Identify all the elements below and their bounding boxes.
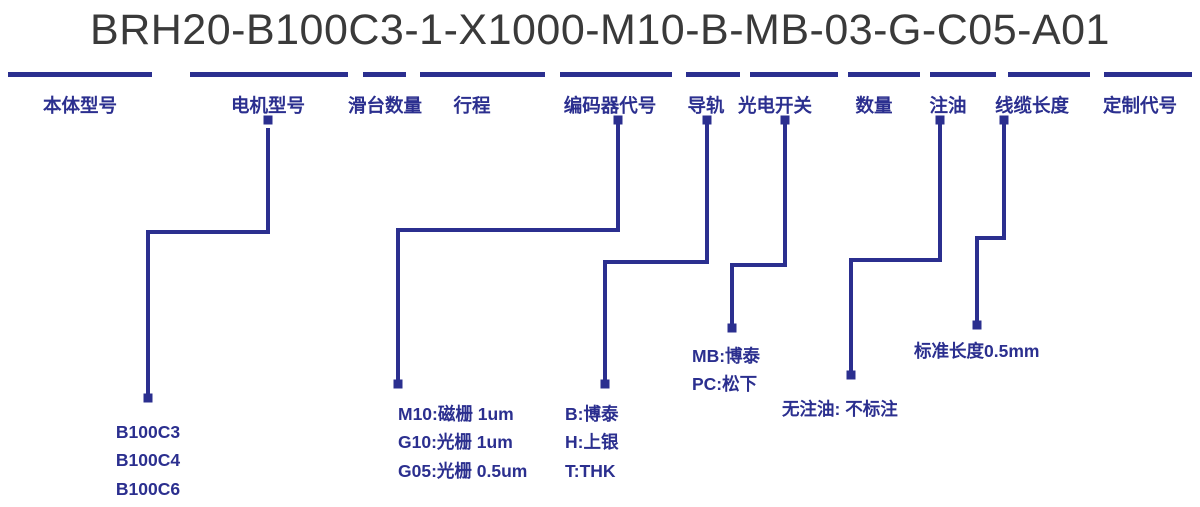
- segment-label-body-model: 本体型号: [43, 92, 117, 118]
- leader-oiling-end-marker: [847, 371, 856, 380]
- segment-underlines: [8, 72, 1192, 77]
- leader-guide-rail-end-marker: [601, 380, 610, 389]
- note-line: T:THK: [565, 457, 618, 485]
- segment-label-guide-rail: 导轨: [687, 92, 724, 118]
- underline-encoder-code: [560, 72, 672, 77]
- leader-oiling: [851, 122, 940, 372]
- underline-custom-code: [1104, 72, 1192, 77]
- model-code-string: BRH20-B100C3-1-X1000-M10-B-MB-03-G-C05-A…: [0, 0, 1200, 60]
- segment-label-photo-switch: 光电开关: [738, 92, 812, 118]
- underline-cable-length: [1008, 72, 1090, 77]
- note-line: M10:磁栅 1um: [398, 400, 527, 428]
- segment-label-cable-length: 线缆长度: [995, 92, 1069, 118]
- underline-quantity: [848, 72, 920, 77]
- note-line: G05:光栅 0.5um: [398, 457, 527, 485]
- note-line: PC:松下: [692, 370, 760, 398]
- note-oiling-options: 无注油: 不标注: [782, 395, 898, 423]
- note-line: B100C3: [116, 418, 180, 446]
- note-line: H:上银: [565, 428, 618, 456]
- note-line: G10:光栅 1um: [398, 428, 527, 456]
- note-guide-rail-options: B:博泰H:上银T:THK: [565, 400, 618, 485]
- note-line: 无注油: 不标注: [782, 395, 898, 423]
- underline-motor-model: [190, 72, 348, 77]
- leader-cable-length: [977, 122, 1004, 322]
- leader-cable-length-end-marker: [973, 321, 982, 330]
- underline-slider-count: [363, 72, 406, 77]
- note-encoder-options: M10:磁栅 1umG10:光栅 1umG05:光栅 0.5um: [398, 400, 527, 485]
- leader-photo-switch: [732, 122, 785, 325]
- leader-photo-switch-end-marker: [728, 324, 737, 333]
- leader-body-model: [148, 128, 268, 396]
- leader-lines: [148, 122, 1004, 396]
- segment-label-custom-code: 定制代号: [1103, 92, 1177, 118]
- leader-encoder: [398, 122, 618, 380]
- note-cable-length-options: 标准长度0.5mm: [914, 337, 1039, 365]
- note-line: MB:博泰: [692, 342, 760, 370]
- segment-label-oiling: 注油: [929, 92, 966, 118]
- underline-oiling: [930, 72, 996, 77]
- underline-photo-switch: [750, 72, 838, 77]
- underline-guide-rail: [686, 72, 740, 77]
- segment-label-encoder-code: 编码器代号: [564, 92, 657, 118]
- leader-body-model-end-marker: [144, 394, 153, 403]
- segment-label-slider-count: 滑台数量: [348, 92, 422, 118]
- note-line: B100C6: [116, 475, 180, 503]
- segment-label-stroke: 行程: [453, 92, 490, 118]
- note-body-model-options: B100C3B100C4B100C6: [116, 418, 180, 503]
- segment-label-quantity: 数量: [855, 92, 892, 118]
- segment-label-motor-model: 电机型号: [231, 92, 305, 118]
- note-line: B:博泰: [565, 400, 618, 428]
- note-line: 标准长度0.5mm: [914, 337, 1039, 365]
- note-line: B100C4: [116, 446, 180, 474]
- note-photo-switch-options: MB:博泰PC:松下: [692, 342, 760, 399]
- underline-body-model: [8, 72, 152, 77]
- leader-encoder-end-marker: [394, 380, 403, 389]
- underline-stroke: [420, 72, 545, 77]
